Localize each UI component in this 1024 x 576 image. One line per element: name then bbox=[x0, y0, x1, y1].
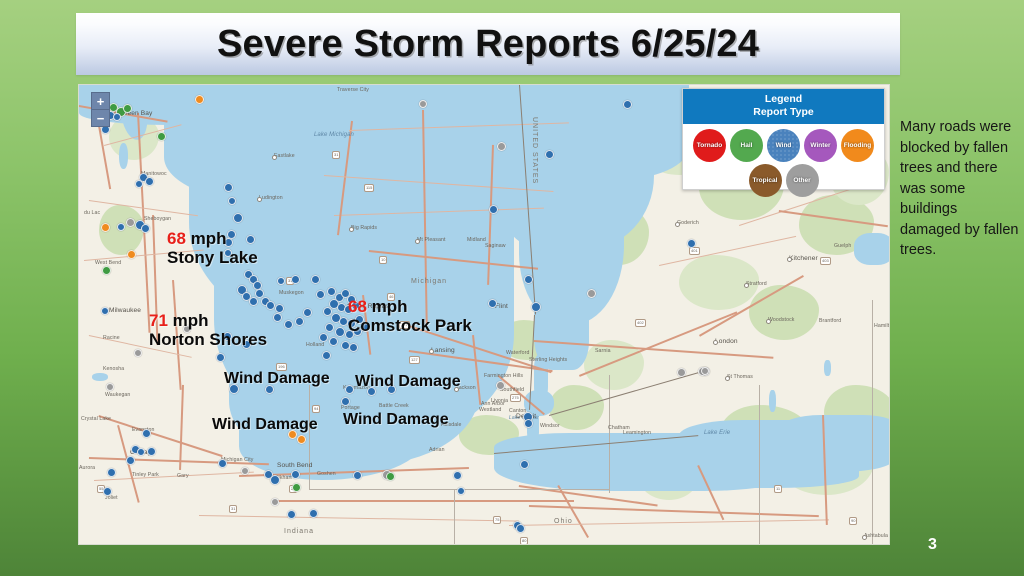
report-marker bbox=[322, 351, 331, 360]
zoom-out-button[interactable]: − bbox=[91, 110, 110, 127]
annotation-unit: mph bbox=[168, 311, 209, 330]
storm-reports-map[interactable]: UNITED STATES Lake Michigan Lake St Clai… bbox=[78, 84, 890, 545]
annotation-speed: 71 bbox=[149, 311, 168, 330]
report-marker bbox=[106, 383, 114, 391]
report-marker bbox=[325, 323, 334, 332]
zoom-in-button[interactable]: + bbox=[91, 92, 110, 110]
annotation-speed: 68 bbox=[167, 229, 186, 248]
annotation-stony-lake: 68 mph Stony Lake bbox=[167, 229, 258, 267]
report-marker bbox=[142, 429, 151, 438]
annotation-wind-damage-1: Wind Damage bbox=[224, 370, 330, 388]
report-marker bbox=[497, 142, 506, 151]
legend-chip-winter: Winter bbox=[804, 129, 837, 162]
report-marker bbox=[291, 470, 300, 479]
report-marker bbox=[126, 218, 135, 227]
report-marker bbox=[266, 301, 275, 310]
report-marker bbox=[117, 223, 125, 231]
report-marker bbox=[141, 224, 150, 233]
report-marker bbox=[103, 487, 112, 496]
report-marker bbox=[107, 468, 116, 477]
report-marker bbox=[147, 447, 156, 456]
annotation-norton-shores: 71 mph Norton Shores bbox=[149, 311, 267, 349]
legend-subtitle: Report Type bbox=[683, 106, 884, 119]
side-note-text: Many roads were blocked by fallen trees … bbox=[900, 117, 1020, 261]
report-marker bbox=[520, 460, 529, 469]
report-marker bbox=[275, 304, 284, 313]
report-marker bbox=[218, 459, 227, 468]
report-marker bbox=[335, 327, 345, 337]
report-marker bbox=[228, 197, 236, 205]
report-marker bbox=[524, 275, 533, 284]
report-marker bbox=[126, 456, 135, 465]
legend-row-primary: Tornado Hail Wind Winter Flooding bbox=[687, 129, 880, 162]
report-marker bbox=[101, 307, 109, 315]
report-marker bbox=[292, 483, 301, 492]
legend-chip-wind: Wind bbox=[767, 129, 800, 162]
report-marker bbox=[137, 448, 145, 456]
map-zoom-control[interactable]: + − bbox=[91, 92, 108, 127]
report-marker bbox=[496, 381, 505, 390]
report-marker bbox=[195, 95, 204, 104]
map-legend: Legend Report Type Tornado Hail Wind Win… bbox=[682, 88, 885, 190]
annotation-place: Comstock Park bbox=[348, 316, 472, 335]
report-marker bbox=[386, 472, 395, 481]
report-marker bbox=[145, 177, 154, 186]
report-marker bbox=[516, 524, 525, 533]
legend-chip-other: Other bbox=[786, 164, 819, 197]
report-marker bbox=[241, 467, 249, 475]
legend-items: Tornado Hail Wind Winter Flooding Tropic… bbox=[683, 124, 884, 203]
report-marker bbox=[309, 509, 318, 518]
report-marker bbox=[419, 100, 427, 108]
annotation-wind-damage-2: Wind Damage bbox=[355, 373, 461, 391]
report-marker bbox=[273, 313, 282, 322]
report-marker bbox=[135, 180, 143, 188]
report-marker bbox=[319, 333, 328, 342]
report-marker bbox=[701, 367, 709, 375]
report-marker bbox=[134, 349, 142, 357]
report-marker bbox=[287, 510, 296, 519]
report-marker bbox=[345, 385, 354, 394]
report-marker bbox=[123, 104, 132, 113]
report-marker bbox=[297, 435, 306, 444]
report-marker bbox=[284, 320, 293, 329]
report-marker bbox=[545, 150, 554, 159]
slide-number: 3 bbox=[928, 536, 937, 554]
report-marker bbox=[311, 275, 320, 284]
report-marker bbox=[489, 205, 498, 214]
annotation-wind-damage-4: Wind Damage bbox=[343, 411, 449, 429]
report-marker bbox=[329, 337, 338, 346]
slide-title-bar: Severe Storm Reports 6/25/24 bbox=[76, 13, 900, 75]
annotation-speed: 68 bbox=[348, 297, 367, 316]
report-marker bbox=[101, 223, 110, 232]
report-marker bbox=[316, 290, 325, 299]
report-marker bbox=[295, 317, 304, 326]
legend-chip-tornado: Tornado bbox=[693, 129, 726, 162]
report-marker bbox=[277, 277, 285, 285]
report-marker bbox=[270, 475, 280, 485]
report-marker bbox=[677, 368, 686, 377]
report-marker bbox=[303, 308, 312, 317]
report-marker bbox=[353, 471, 362, 480]
report-marker bbox=[587, 289, 596, 298]
annotation-place: Stony Lake bbox=[167, 248, 258, 267]
legend-chip-hail: Hail bbox=[730, 129, 763, 162]
report-marker bbox=[687, 239, 696, 248]
report-marker bbox=[157, 132, 166, 141]
report-marker bbox=[216, 353, 225, 362]
report-marker bbox=[623, 100, 632, 109]
annotation-unit: mph bbox=[186, 229, 227, 248]
annotation-wind-damage-3: Wind Damage bbox=[212, 416, 318, 434]
legend-header: Legend Report Type bbox=[683, 89, 884, 124]
report-marker bbox=[531, 302, 541, 312]
legend-chip-tropical: Tropical bbox=[749, 164, 782, 197]
report-marker bbox=[349, 343, 358, 352]
annotation-place: Norton Shores bbox=[149, 330, 267, 349]
legend-title: Legend bbox=[683, 93, 884, 106]
report-marker bbox=[113, 113, 121, 121]
annotation-comstock-park: 68 mph Comstock Park bbox=[348, 297, 472, 335]
report-marker bbox=[488, 299, 497, 308]
report-marker bbox=[127, 250, 136, 259]
report-marker bbox=[524, 419, 533, 428]
report-marker bbox=[224, 183, 233, 192]
legend-row-secondary: Tropical Other bbox=[687, 164, 880, 197]
report-marker bbox=[291, 275, 300, 284]
page-title: Severe Storm Reports 6/25/24 bbox=[217, 23, 759, 66]
report-marker bbox=[453, 471, 462, 480]
report-marker bbox=[457, 487, 465, 495]
report-marker bbox=[341, 397, 350, 406]
legend-chip-flooding: Flooding bbox=[841, 129, 874, 162]
report-marker bbox=[233, 213, 243, 223]
annotation-unit: mph bbox=[367, 297, 408, 316]
report-marker bbox=[249, 297, 258, 306]
report-marker bbox=[102, 266, 111, 275]
report-marker bbox=[271, 498, 279, 506]
